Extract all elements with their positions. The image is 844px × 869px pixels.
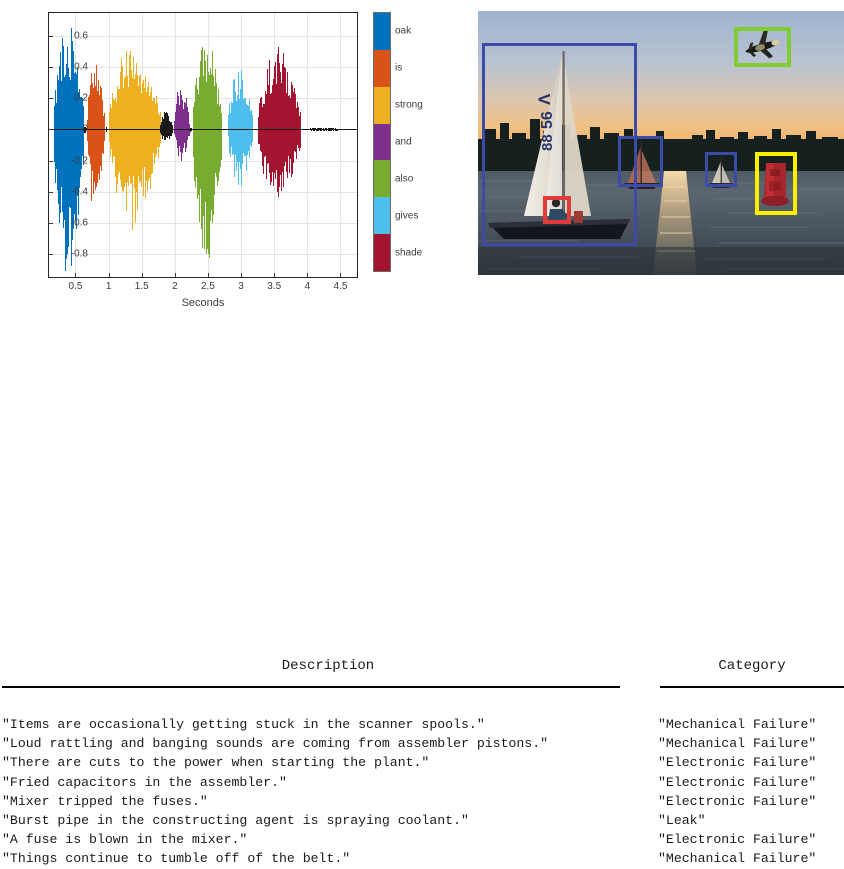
y-tick-label: 0: [82, 124, 88, 135]
y-tick-mark: [49, 223, 53, 224]
y-tick-label: -0.4: [71, 186, 88, 197]
object-detection-photo: Λ 56 88: [478, 11, 844, 275]
gridline-vertical: [340, 13, 341, 277]
description-header-rule: [2, 686, 620, 688]
gridline-vertical: [307, 13, 308, 277]
y-tick-label: 0.4: [74, 62, 88, 73]
x-tick-mark: [241, 273, 242, 277]
table-row-description: "Loud rattling and banging sounds are co…: [2, 734, 652, 753]
bounding-box-person[interactable]: [543, 196, 571, 224]
column-header-category: Category: [660, 658, 844, 674]
bounding-box-airplane[interactable]: [734, 27, 791, 67]
x-tick-label: 4.5: [333, 281, 347, 292]
x-tick-mark: [208, 273, 209, 277]
legend-label-also: also: [395, 174, 413, 185]
table-row-category: "Mechanical Failure": [658, 734, 844, 753]
x-axis-title: Seconds: [48, 297, 358, 309]
table-row-category: "Leak": [658, 811, 844, 830]
legend-swatch-oak[interactable]: [374, 13, 390, 50]
x-tick-label: 0.5: [69, 281, 83, 292]
table-row-category: "Electronic Failure": [658, 792, 844, 811]
category-column: "Mechanical Failure""Mechanical Failure"…: [658, 715, 844, 869]
legend-swatch-also[interactable]: [374, 160, 390, 197]
legend-swatch-strong[interactable]: [374, 87, 390, 124]
waveform-sample-also: [221, 113, 222, 160]
x-tick-mark: [75, 273, 76, 277]
legend-swatch-is[interactable]: [374, 50, 390, 87]
audio-waveform-figure: 0.60.40.20-0.2-0.4-0.6-0.8 0.511.522.533…: [0, 0, 440, 320]
x-tick-label: 3.5: [267, 281, 281, 292]
x-tick-mark: [307, 273, 308, 277]
x-tick-label: 4: [305, 281, 311, 292]
table-row-description: "Fried capacitors in the assembler.": [2, 773, 652, 792]
legend-label-gives: gives: [395, 211, 418, 222]
category-header-rule: [660, 686, 844, 688]
x-tick-label: 1: [106, 281, 112, 292]
y-tick-mark: [49, 254, 53, 255]
gridline-horizontal: [49, 36, 357, 37]
y-tick-mark: [49, 67, 53, 68]
bounding-box-buoy[interactable]: [755, 152, 797, 215]
table-row-category: "Electronic Failure": [658, 830, 844, 849]
column-header-description: Description: [0, 658, 656, 674]
zero-amplitude-axis: [49, 129, 357, 130]
x-tick-label: 2.5: [201, 281, 215, 292]
legend-swatch-gives[interactable]: [374, 197, 390, 234]
x-tick-mark: [340, 273, 341, 277]
x-tick-mark: [142, 273, 143, 277]
y-tick-label: 0.6: [74, 31, 88, 42]
legend-swatch-and[interactable]: [374, 124, 390, 161]
y-tick-label: -0.8: [71, 248, 88, 259]
legend-label-is: is: [395, 62, 402, 73]
table-row-description: "Items are occasionally getting stuck in…: [2, 715, 652, 734]
failure-report-table: Description Category "Items are occasion…: [0, 325, 844, 550]
y-tick-label: -0.6: [71, 217, 88, 228]
legend-label-strong: strong: [395, 99, 423, 110]
y-tick-mark: [49, 36, 53, 37]
gridline-horizontal: [49, 254, 357, 255]
x-tick-mark: [109, 273, 110, 277]
table-row-description: "Burst pipe in the constructing agent is…: [2, 811, 652, 830]
x-tick-mark: [274, 273, 275, 277]
legend-swatch-shade[interactable]: [374, 234, 390, 271]
word-color-legend-bar[interactable]: [373, 12, 391, 272]
bounding-box-boat-medium[interactable]: [618, 136, 663, 187]
table-row-description: "Mixer tripped the fuses.": [2, 792, 652, 811]
x-tick-label: 2: [172, 281, 178, 292]
x-tick-label: 3: [238, 281, 244, 292]
table-row-category: "Electronic Failure": [658, 773, 844, 792]
y-tick-mark: [49, 98, 53, 99]
legend-label-shade: shade: [395, 248, 422, 259]
legend-label-and: and: [395, 137, 412, 148]
x-tick-mark: [175, 273, 176, 277]
y-tick-label: -0.2: [71, 155, 88, 166]
table-row-category: "Mechanical Failure": [658, 849, 844, 868]
description-column: "Items are occasionally getting stuck in…: [2, 715, 652, 869]
table-row-description: "Things continue to tumble off of the be…: [2, 849, 652, 868]
table-row-description: "A fuse is blown in the mixer.": [2, 830, 652, 849]
y-tick-mark: [49, 192, 53, 193]
y-tick-mark: [49, 129, 53, 130]
table-row-category: "Electronic Failure": [658, 753, 844, 772]
bounding-box-boat-small[interactable]: [705, 152, 737, 187]
table-row-category: "Mechanical Failure": [658, 715, 844, 734]
x-tick-label: 1.5: [135, 281, 149, 292]
y-tick-label: 0.2: [74, 93, 88, 104]
waveform-sample-is: [104, 113, 105, 141]
waveform-plot-area: [48, 12, 358, 278]
y-tick-mark: [49, 161, 53, 162]
legend-label-oak: oak: [395, 25, 411, 36]
table-row-description: "There are cuts to the power when starti…: [2, 753, 652, 772]
top-visualization-row: 0.60.40.20-0.2-0.4-0.6-0.8 0.511.522.533…: [0, 0, 844, 320]
